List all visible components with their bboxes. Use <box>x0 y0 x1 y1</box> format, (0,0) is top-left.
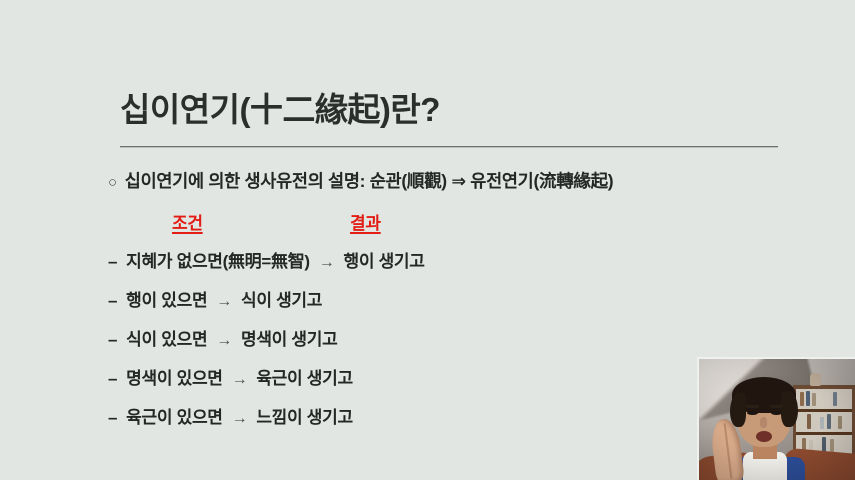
list-item: – 행이 있으면 → 식이 생기고 <box>108 286 808 325</box>
dash-bullet-icon: – <box>108 330 117 350</box>
lead-statement: ○ 십이연기에 의한 생사유전의 설명: 순관(順觀) ⇒ 유전연기(流轉緣起) <box>108 168 808 193</box>
presentation-slide: 십이연기(十二緣起)란? ○ 십이연기에 의한 생사유전의 설명: 순관(順觀)… <box>0 0 855 480</box>
column-headers: 조건 결과 <box>108 209 808 243</box>
presenter-video-overlay[interactable] <box>697 357 855 480</box>
chain-effect: 식이 생기고 <box>241 286 322 311</box>
title-block: 십이연기(十二緣起)란? <box>120 92 780 129</box>
video-vignette <box>699 359 855 480</box>
lead-statement-text: 십이연기에 의한 생사유전의 설명: 순관(順觀) ⇒ 유전연기(流轉緣起) <box>125 168 614 193</box>
arrow-right-icon: → <box>216 332 232 350</box>
arrow-right-icon: → <box>232 410 248 428</box>
dash-bullet-icon: – <box>108 252 117 272</box>
list-item: – 지혜가 없으면(無明=無智) → 행이 생기고 <box>108 247 808 286</box>
chain-cause: 행이 있으면 <box>126 286 207 311</box>
arrow-right-icon: → <box>216 293 232 311</box>
chain-effect: 육근이 생기고 <box>256 364 352 389</box>
circle-bullet-icon: ○ <box>108 174 117 191</box>
chain-cause: 식이 있으면 <box>126 325 207 350</box>
chain-cause: 육근이 있으면 <box>126 403 222 428</box>
dash-bullet-icon: – <box>108 408 117 428</box>
column-header-condition: 조건 <box>172 209 203 234</box>
page-title: 십이연기(十二緣起)란? <box>120 92 780 129</box>
chain-effect: 행이 생기고 <box>343 247 424 272</box>
chain-effect: 명색이 생기고 <box>241 325 337 350</box>
column-header-result: 결과 <box>350 209 381 234</box>
dash-bullet-icon: – <box>108 369 117 389</box>
title-divider <box>120 146 778 148</box>
chain-cause: 명색이 있으면 <box>126 364 222 389</box>
dash-bullet-icon: – <box>108 291 117 311</box>
arrow-right-icon: → <box>232 371 248 389</box>
chain-cause: 지혜가 없으면(無明=無智) <box>126 247 310 272</box>
arrow-right-icon: → <box>319 254 335 272</box>
chain-effect: 느낌이 생기고 <box>256 403 352 428</box>
